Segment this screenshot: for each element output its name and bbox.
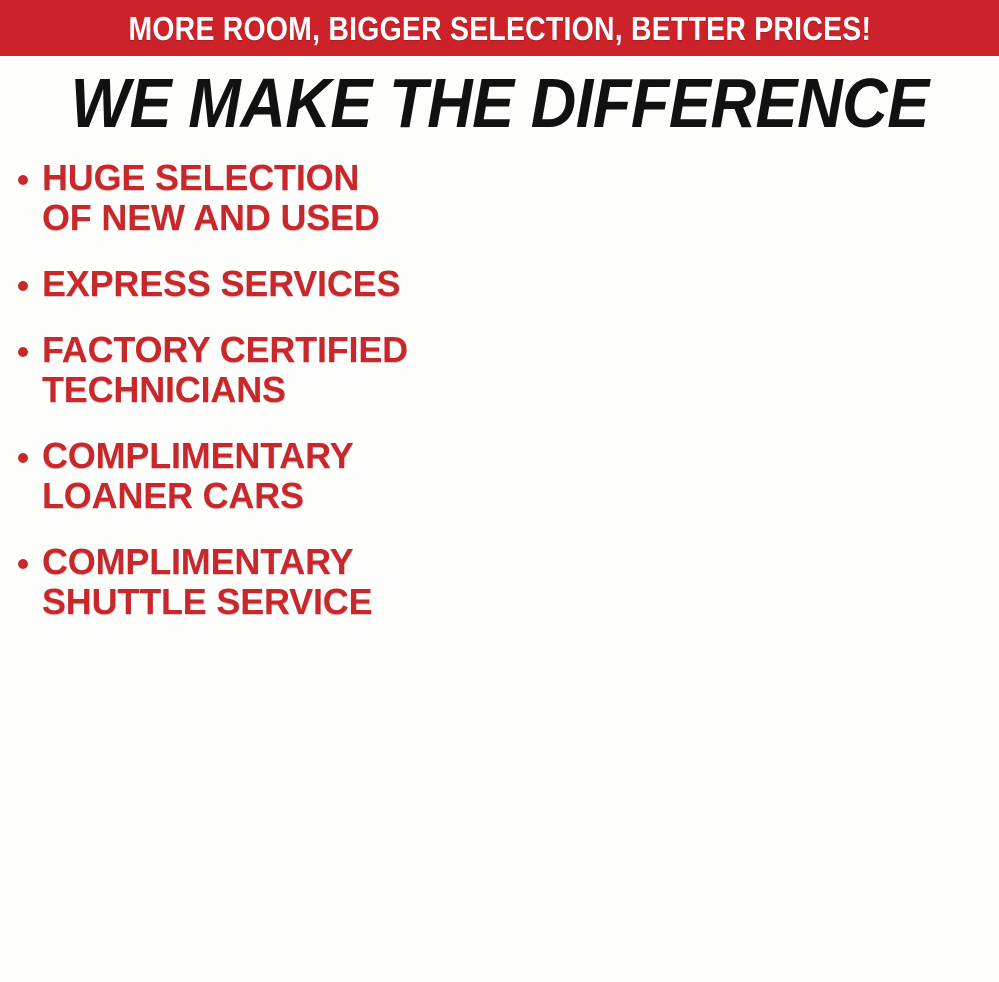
list-item-label: FACTORY CERTIFIED TECHNICIANS (42, 330, 408, 410)
benefits-columns: HUGE SELECTION OF NEW AND USED EXPRESS S… (0, 158, 999, 692)
list-item-label: COMPLIMENTARY SHUTTLE SERVICE (42, 542, 372, 622)
page-title: WE MAKE THE DIFFERENCE (70, 68, 928, 138)
list-item-label: HUGE SELECTION OF NEW AND USED (42, 158, 380, 238)
list-item: FACTORY CERTIFIED TECHNICIANS (18, 330, 496, 410)
top-banner: MORE ROOM, BIGGER SELECTION, BETTER PRIC… (0, 0, 999, 56)
banner-headline-text: MORE ROOM, BIGGER SELECTION, BETTER PRIC… (128, 12, 871, 45)
promo-poster: MORE ROOM, BIGGER SELECTION, BETTER PRIC… (0, 0, 999, 692)
bullet-dot-icon (18, 559, 28, 569)
bullet-dot-icon (18, 347, 28, 357)
bullet-dot-icon (18, 175, 28, 185)
list-item: EXPRESS SERVICES (18, 264, 496, 304)
list-item: COMPLIMENTARY SHUTTLE SERVICE (18, 542, 496, 622)
bullet-dot-icon (18, 281, 28, 291)
benefits-column-right: 72 HOUR EXCHANGE POLICY HOME DELIVERY CU… (500, 158, 999, 982)
list-item: COMPLIMENTARY LOANER CARS (18, 436, 496, 516)
headline-container: WE MAKE THE DIFFERENCE (0, 64, 999, 142)
benefits-column-left: HUGE SELECTION OF NEW AND USED EXPRESS S… (0, 158, 500, 648)
bullet-dot-icon (18, 453, 28, 463)
list-item-label: EXPRESS SERVICES (42, 264, 400, 304)
list-item-label: COMPLIMENTARY LOANER CARS (42, 436, 353, 516)
list-item: HUGE SELECTION OF NEW AND USED (18, 158, 496, 238)
